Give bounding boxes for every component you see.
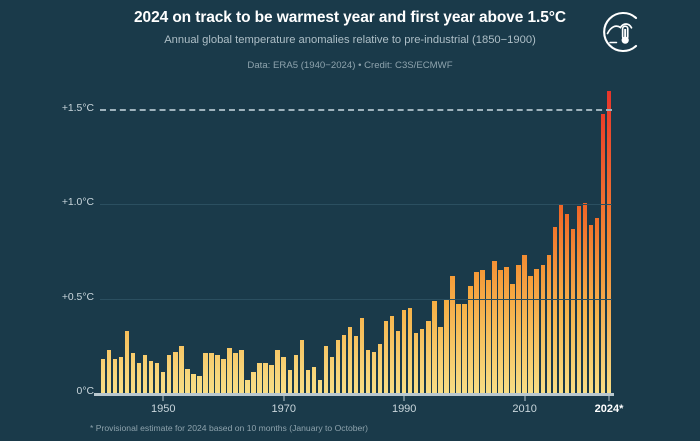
x-axis-tick-label: 2024* — [595, 403, 624, 415]
bar — [245, 380, 249, 393]
chart-source-credit: Data: ERA5 (1940−2024) • Credit: C3S/ECM… — [0, 60, 700, 71]
bar — [396, 331, 400, 393]
bar — [119, 357, 123, 393]
bar — [607, 91, 611, 393]
bar — [257, 363, 261, 393]
bar — [510, 284, 514, 393]
bar — [565, 214, 569, 393]
y-axis-tick-label: 0°C — [38, 386, 94, 397]
bar — [324, 346, 328, 393]
bar — [275, 350, 279, 393]
bar — [318, 380, 322, 393]
bar — [191, 374, 195, 393]
bar — [438, 327, 442, 393]
chart-subtitle: Annual global temperature anomalies rela… — [0, 34, 700, 46]
bar — [516, 265, 520, 393]
bar — [185, 369, 189, 394]
bar — [601, 114, 605, 393]
x-axis-tick — [404, 396, 405, 401]
bar — [263, 363, 267, 393]
bar — [366, 350, 370, 393]
bar-series — [100, 80, 612, 393]
bar — [161, 372, 165, 393]
chart-footnote: * Provisional estimate for 2024 based on… — [90, 423, 368, 433]
bar — [215, 355, 219, 393]
y-axis-tick-label: +1.0°C — [38, 197, 94, 208]
bar — [444, 299, 448, 393]
bar — [113, 359, 117, 393]
y-axis-tick-label: +0.5°C — [38, 292, 94, 303]
bar — [354, 336, 358, 393]
bar — [203, 353, 207, 393]
gridline — [100, 299, 612, 300]
bar — [239, 350, 243, 393]
bar — [589, 225, 593, 393]
bar — [390, 316, 394, 393]
bar — [348, 327, 352, 393]
bar — [462, 304, 466, 393]
bar — [306, 370, 310, 393]
bar — [360, 318, 364, 393]
bar — [498, 270, 502, 393]
bar — [131, 353, 135, 393]
bar — [432, 301, 436, 393]
bar — [143, 355, 147, 393]
bar — [173, 352, 177, 393]
bar — [480, 270, 484, 393]
bar — [221, 359, 225, 393]
x-axis-tick-label: 1990 — [392, 403, 416, 415]
bar — [468, 286, 472, 393]
bar — [456, 304, 460, 393]
bar — [269, 365, 273, 393]
bar — [402, 310, 406, 393]
bar — [547, 255, 551, 393]
chart-title: 2024 on track to be warmest year and fir… — [0, 9, 700, 27]
bar — [197, 376, 201, 393]
bar — [294, 355, 298, 393]
bar — [384, 321, 388, 393]
bar — [251, 372, 255, 393]
bar — [408, 308, 412, 393]
x-axis-tick — [608, 396, 609, 401]
x-axis-line — [94, 393, 614, 396]
bar — [595, 218, 599, 393]
x-axis-tick-label: 2010 — [512, 403, 536, 415]
bar — [522, 255, 526, 393]
c3s-thermometer-logo-icon — [596, 8, 644, 56]
bar — [492, 261, 496, 393]
bar — [504, 267, 508, 393]
x-axis-tick-label: 1950 — [151, 403, 175, 415]
bar — [107, 350, 111, 393]
x-axis-tick — [283, 396, 284, 401]
bar — [101, 359, 105, 393]
x-axis-tick — [163, 396, 164, 401]
bar — [571, 229, 575, 393]
bar — [137, 363, 141, 393]
plot-area — [100, 80, 612, 393]
bar — [553, 227, 557, 393]
bar — [288, 370, 292, 393]
bar — [149, 361, 153, 393]
bar — [167, 355, 171, 393]
bar — [125, 331, 129, 393]
bar — [179, 346, 183, 393]
bar — [528, 276, 532, 393]
bar — [209, 353, 213, 393]
bar — [450, 276, 454, 393]
bar — [300, 340, 304, 393]
bar — [420, 329, 424, 393]
climate-anomaly-chart-figure: 2024 on track to be warmest year and fir… — [0, 0, 700, 441]
bar — [342, 335, 346, 393]
bar — [330, 357, 334, 393]
bar — [541, 265, 545, 393]
bar — [312, 367, 316, 393]
bar — [426, 321, 430, 393]
x-axis-tick-label: 1970 — [271, 403, 295, 415]
bar — [227, 348, 231, 393]
y-axis-tick-label: +1.5°C — [38, 103, 94, 114]
bar — [486, 280, 490, 393]
bar — [414, 333, 418, 393]
bar — [155, 363, 159, 393]
bar — [281, 357, 285, 393]
threshold-line-1-5c — [100, 109, 612, 111]
bar — [336, 340, 340, 393]
bar — [378, 344, 382, 393]
bar — [372, 352, 376, 393]
gridline — [100, 204, 612, 205]
x-axis-tick — [524, 396, 525, 401]
bar — [474, 272, 478, 393]
bar — [233, 353, 237, 393]
bar — [534, 269, 538, 393]
